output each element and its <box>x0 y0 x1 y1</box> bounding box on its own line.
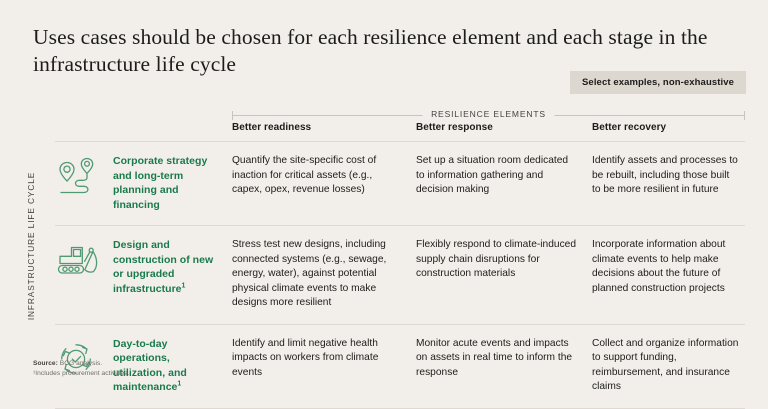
source-text: BCG analysis. <box>60 360 102 367</box>
stage-label-text: Corporate strategy and long-term plannin… <box>113 154 222 212</box>
use-case-matrix: Better readiness Better response Better … <box>55 122 745 409</box>
table-row: Design and construction of new or upgrad… <box>55 226 745 325</box>
header-stage <box>113 122 232 133</box>
source-label: Source: <box>33 360 58 367</box>
cell-recovery: Incorporate information about climate ev… <box>592 238 745 296</box>
footnote-line: ¹Includes procurement activities. <box>33 369 129 379</box>
header-icon-spacer <box>55 122 113 133</box>
table-row: Day-to-day operations, utilization, and … <box>55 325 745 409</box>
slide-root: Uses cases should be chosen for each res… <box>0 0 768 402</box>
route-location-pins-icon <box>55 154 113 198</box>
stage-footnote-marker: 1 <box>182 282 186 289</box>
excavator-icon <box>55 238 113 282</box>
row-stage-label: Corporate strategy and long-term plannin… <box>113 154 232 212</box>
status-badge: Select examples, non-exhaustive <box>570 71 746 94</box>
cell-readiness: Quantify the site-specific cost of inact… <box>232 154 416 198</box>
stage-label-text: Design and construction of new or upgrad… <box>113 238 222 296</box>
header-better-response: Better response <box>416 122 592 133</box>
cell-readiness: Identify and limit negative health impac… <box>232 337 416 381</box>
page-title: Uses cases should be chosen for each res… <box>33 24 723 78</box>
bracket-tick-left <box>232 111 233 120</box>
infrastructure-life-cycle-axis-label: INFRASTRUCTURE LIFE CYCLE <box>24 148 38 343</box>
cell-response: Set up a situation room dedicated to inf… <box>416 154 592 198</box>
cell-recovery: Identify assets and processes to be rebu… <box>592 154 745 198</box>
stage-label-text: Day-to-day operations, utilization, and … <box>113 337 222 395</box>
source-line: Source: BCG analysis. <box>33 359 129 369</box>
row-stage-label: Day-to-day operations, utilization, and … <box>113 337 232 395</box>
cell-readiness: Stress test new designs, including conne… <box>232 238 416 311</box>
header-better-readiness: Better readiness <box>232 122 416 133</box>
table-header-row: Better readiness Better response Better … <box>55 122 745 142</box>
cell-recovery: Collect and organize information to supp… <box>592 337 745 395</box>
axis-label-text: INFRASTRUCTURE LIFE CYCLE <box>26 171 36 319</box>
cell-response: Flexibly respond to climate-induced supp… <box>416 238 592 282</box>
stage-footnote-marker: 1 <box>177 381 181 388</box>
bracket-tick-right <box>744 111 745 120</box>
row-stage-label: Design and construction of new or upgrad… <box>113 238 232 296</box>
stage-label-inner: Design and construction of new or upgrad… <box>113 239 213 295</box>
header-better-recovery: Better recovery <box>592 122 745 133</box>
table-row: Corporate strategy and long-term plannin… <box>55 142 745 226</box>
cell-response: Monitor acute events and impacts on asse… <box>416 337 592 381</box>
footer: Source: BCG analysis. ¹Includes procurem… <box>33 359 129 378</box>
bracket-label: RESILIENCE ELEMENTS <box>422 109 555 120</box>
resilience-elements-bracket: RESILIENCE ELEMENTS <box>232 110 745 122</box>
